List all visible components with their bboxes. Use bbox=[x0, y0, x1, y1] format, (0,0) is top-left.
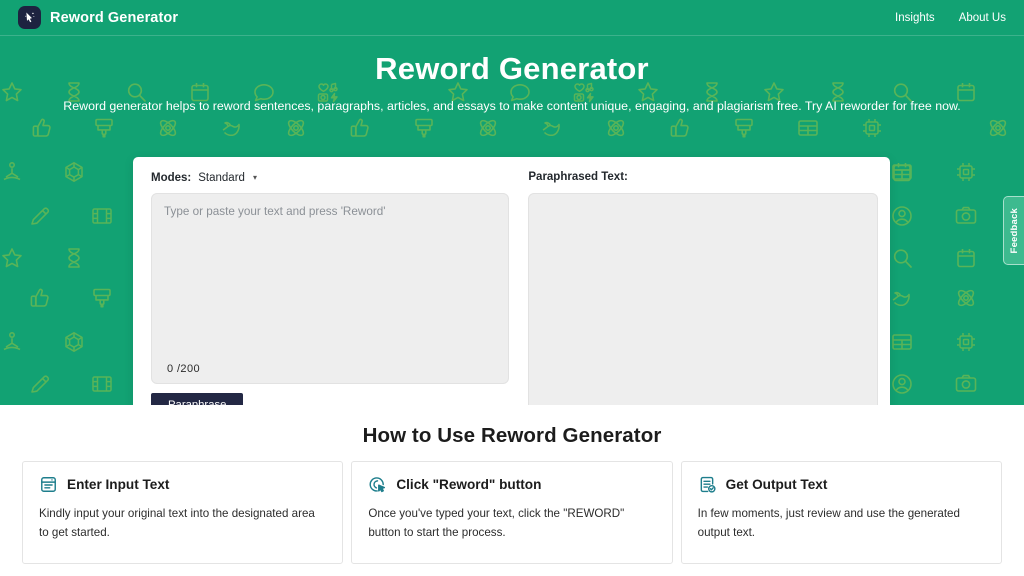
input-pane: Modes: Standard ▾ Type or paste your tex… bbox=[151, 170, 509, 405]
hero-section: Reword Generator Reword generator helps … bbox=[0, 36, 1024, 405]
brand[interactable]: Reword Generator bbox=[18, 6, 178, 29]
card-title: Enter Input Text bbox=[67, 477, 169, 492]
input-textarea[interactable]: Type or paste your text and press 'Rewor… bbox=[151, 193, 509, 384]
paraphrase-button[interactable]: Paraphrase bbox=[151, 393, 243, 405]
hero-text: Reword Generator Reword generator helps … bbox=[0, 36, 1024, 113]
modes-select[interactable]: Standard bbox=[198, 172, 245, 184]
card-body: Once you've typed your text, click the "… bbox=[368, 505, 655, 543]
nav-link-about-us[interactable]: About Us bbox=[959, 12, 1006, 24]
how-to-use-section: How to Use Reword Generator Enter Input … bbox=[0, 405, 1024, 564]
card-title: Click "Reword" button bbox=[396, 477, 541, 492]
howto-card-enter-input-text: Enter Input Text Kindly input your origi… bbox=[22, 461, 343, 564]
howto-card-get-output-text: Get Output Text In few moments, just rev… bbox=[681, 461, 1002, 564]
how-to-use-cards: Enter Input Text Kindly input your origi… bbox=[0, 448, 1024, 564]
modes-label: Modes: bbox=[151, 172, 191, 184]
char-counter: 0 /200 bbox=[167, 363, 200, 375]
page-title: Reword Generator bbox=[0, 36, 1024, 87]
card-head: Click "Reword" button bbox=[368, 475, 655, 494]
paraphrase-tool-card: Modes: Standard ▾ Type or paste your tex… bbox=[133, 157, 890, 405]
input-placeholder: Type or paste your text and press 'Rewor… bbox=[164, 205, 496, 218]
card-head: Enter Input Text bbox=[39, 475, 326, 494]
output-label: Paraphrased Text: bbox=[528, 170, 878, 185]
document-check-icon bbox=[698, 475, 717, 494]
card-title: Get Output Text bbox=[726, 477, 828, 492]
magic-cursor-icon bbox=[18, 6, 41, 29]
page-subtitle: Reword generator helps to reword sentenc… bbox=[0, 99, 1024, 113]
document-lines-icon bbox=[39, 475, 58, 494]
card-body: Kindly input your original text into the… bbox=[39, 505, 326, 543]
feedback-tab[interactable]: Feedback bbox=[1003, 196, 1024, 265]
card-body: In few moments, just review and use the … bbox=[698, 505, 985, 543]
how-to-use-title: How to Use Reword Generator bbox=[0, 424, 1024, 448]
howto-card-click-reword-button: Click "Reword" button Once you've typed … bbox=[351, 461, 672, 564]
nav-links: Insights About Us bbox=[895, 12, 1006, 24]
top-navbar: Reword Generator Insights About Us bbox=[0, 0, 1024, 36]
modes-row: Modes: Standard ▾ bbox=[151, 170, 509, 185]
output-textarea[interactable] bbox=[528, 193, 878, 405]
chevron-down-icon[interactable]: ▾ bbox=[253, 173, 257, 182]
feedback-tab-label: Feedback bbox=[1009, 208, 1020, 253]
output-pane: Paraphrased Text: bbox=[528, 170, 878, 405]
card-head: Get Output Text bbox=[698, 475, 985, 494]
nav-link-insights[interactable]: Insights bbox=[895, 12, 935, 24]
brand-name: Reword Generator bbox=[50, 10, 178, 26]
cursor-click-icon bbox=[368, 475, 387, 494]
